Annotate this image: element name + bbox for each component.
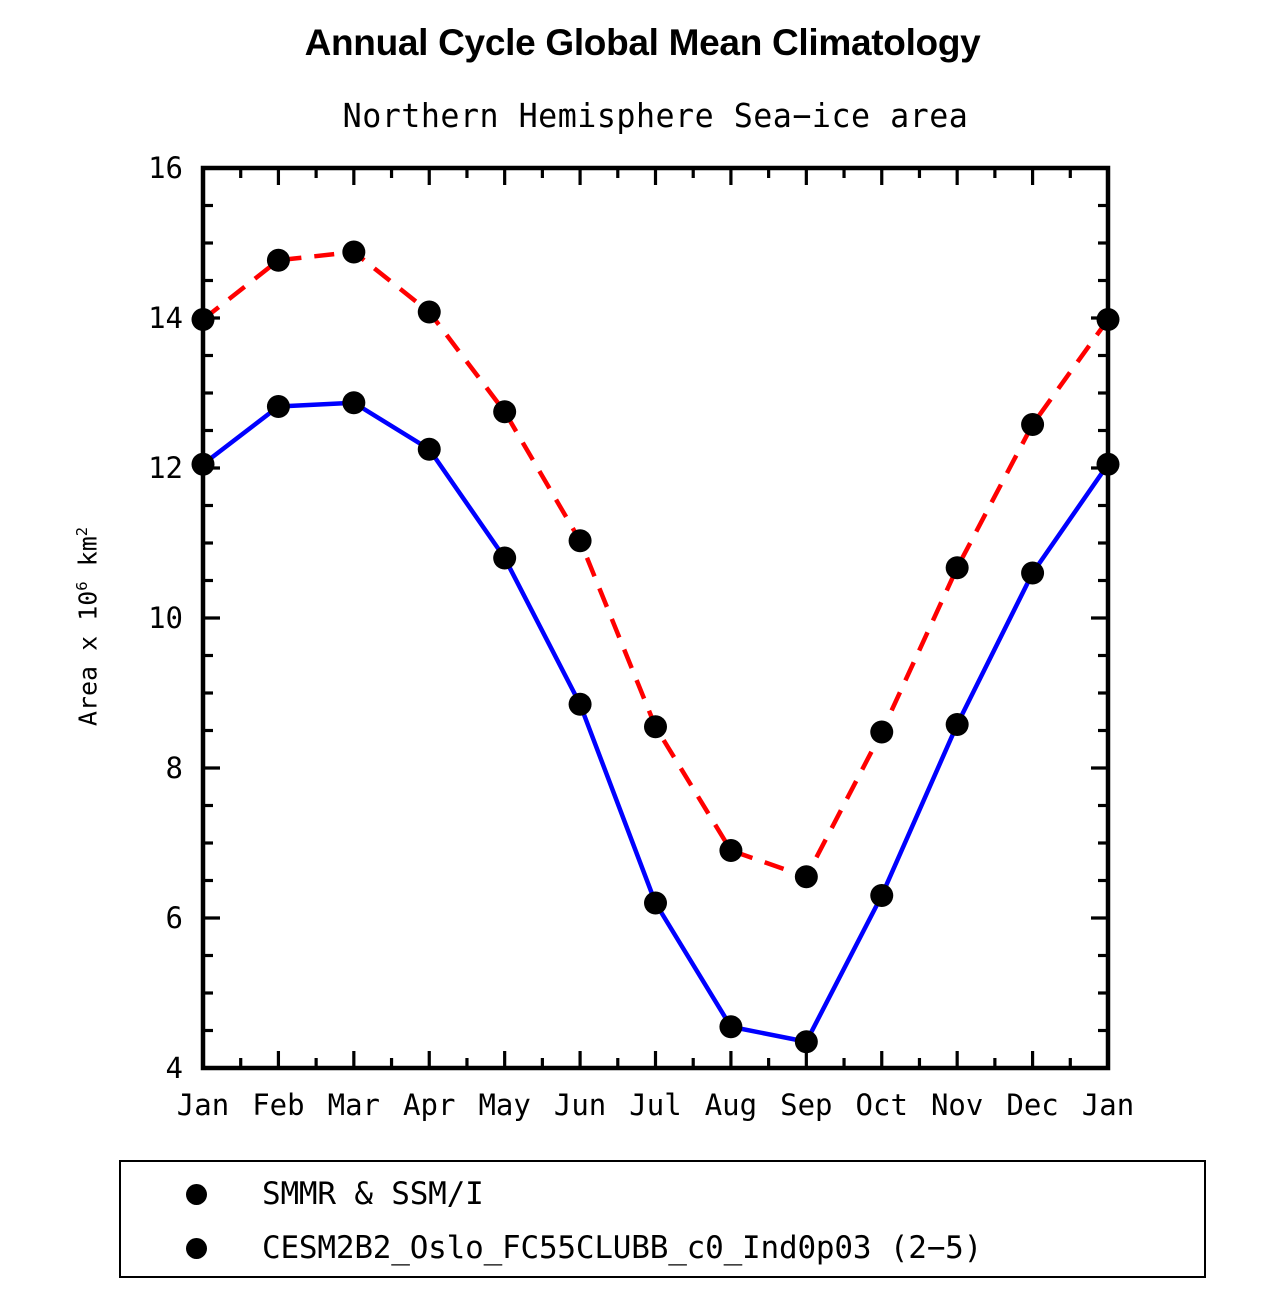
legend-marker-circle-icon xyxy=(186,1238,207,1259)
legend-marker-circle-icon xyxy=(186,1184,207,1205)
legend-entry-smmr[interactable]: SMMR & SSM/I xyxy=(121,1166,1204,1222)
legend-label-cesm: CESM2B2_Oslo_FC55CLUBB_c0_Ind0p03 (2−5) xyxy=(262,1230,982,1266)
data-point-marker xyxy=(267,395,290,418)
y-tick-label: 6 xyxy=(113,901,183,935)
data-point-marker xyxy=(795,1030,818,1053)
x-tick-label: Jan xyxy=(1063,1088,1153,1122)
axis-major-ticks xyxy=(203,168,1108,1068)
data-point-marker xyxy=(870,721,893,744)
data-point-marker xyxy=(192,308,215,331)
y-tick-label: 10 xyxy=(113,601,183,635)
axes-frame xyxy=(203,168,1108,1068)
legend-label-smmr: SMMR & SSM/I xyxy=(262,1176,484,1212)
data-point-marker xyxy=(342,391,365,414)
legend-entry-cesm[interactable]: CESM2B2_Oslo_FC55CLUBB_c0_Ind0p03 (2−5) xyxy=(121,1220,1204,1276)
chart-legend: SMMR & SSM/I CESM2B2_Oslo_FC55CLUBB_c0_I… xyxy=(119,1160,1206,1278)
data-point-marker xyxy=(1097,453,1120,476)
data-point-marker xyxy=(946,556,969,579)
data-point-marker xyxy=(719,839,742,862)
data-point-marker xyxy=(267,249,290,272)
series-line-1 xyxy=(203,252,1108,877)
y-tick-label: 8 xyxy=(113,751,183,785)
data-point-marker xyxy=(418,438,441,461)
data-point-marker xyxy=(493,400,516,423)
series-lines xyxy=(203,252,1108,1042)
data-point-marker xyxy=(1021,562,1044,585)
chart-figure: Annual Cycle Global Mean Climatology Nor… xyxy=(0,0,1285,1292)
y-tick-label: 14 xyxy=(113,301,183,335)
legend-swatch-smmr xyxy=(130,1174,262,1214)
data-point-marker xyxy=(569,693,592,716)
data-point-marker xyxy=(946,713,969,736)
data-point-marker xyxy=(1021,413,1044,436)
data-point-marker xyxy=(192,453,215,476)
data-point-marker xyxy=(569,529,592,552)
data-point-marker xyxy=(644,715,667,738)
data-point-marker xyxy=(493,547,516,570)
data-point-marker xyxy=(719,1015,742,1038)
y-tick-label: 16 xyxy=(113,151,183,185)
legend-swatch-cesm xyxy=(130,1228,262,1268)
data-point-marker xyxy=(644,892,667,915)
axis-minor-ticks xyxy=(203,168,1108,1068)
y-tick-label: 4 xyxy=(113,1051,183,1085)
y-tick-label: 12 xyxy=(113,451,183,485)
series-markers xyxy=(192,241,1120,1054)
data-point-marker xyxy=(418,301,441,324)
data-point-marker xyxy=(1097,308,1120,331)
data-point-marker xyxy=(870,884,893,907)
data-point-marker xyxy=(342,241,365,264)
data-point-marker xyxy=(795,865,818,888)
